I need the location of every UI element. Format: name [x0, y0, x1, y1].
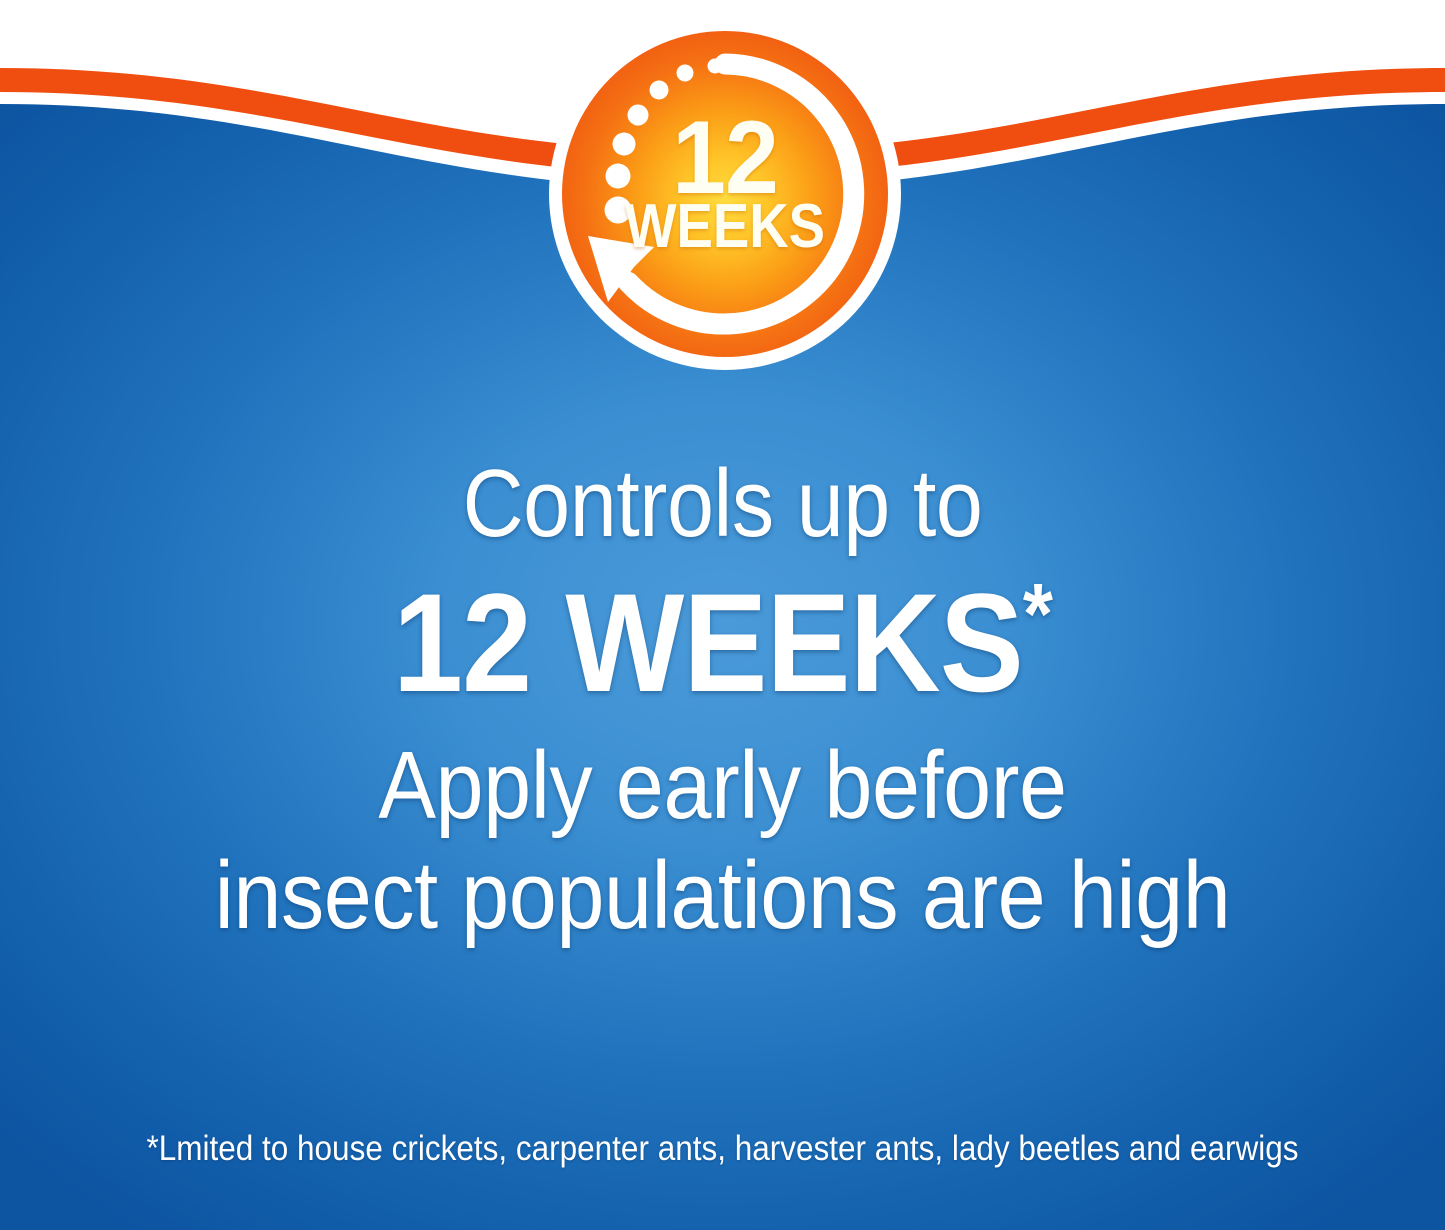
headline-weeks-value: 12 WEEKS — [393, 564, 1023, 721]
duration-badge: 12 WEEKS — [542, 18, 908, 370]
badge-orange-disc — [562, 31, 888, 357]
headline-line-1: Controls up to — [87, 452, 1359, 556]
headline-asterisk: * — [1023, 566, 1052, 662]
promo-banner: 12 WEEKS Controls up to 12 WEEKS* Apply … — [0, 0, 1445, 1230]
refresh-clock-arrow-icon — [542, 18, 908, 370]
headline-line-3: Apply early before — [72, 732, 1373, 840]
headline-block: Controls up to 12 WEEKS* Apply early bef… — [0, 452, 1445, 950]
headline-line-2: 12 WEEKS* — [72, 568, 1373, 718]
footnote-disclaimer: *Lmited to house crickets, carpenter ant… — [72, 1128, 1373, 1170]
headline-line-4: insect populations are high — [72, 842, 1373, 950]
